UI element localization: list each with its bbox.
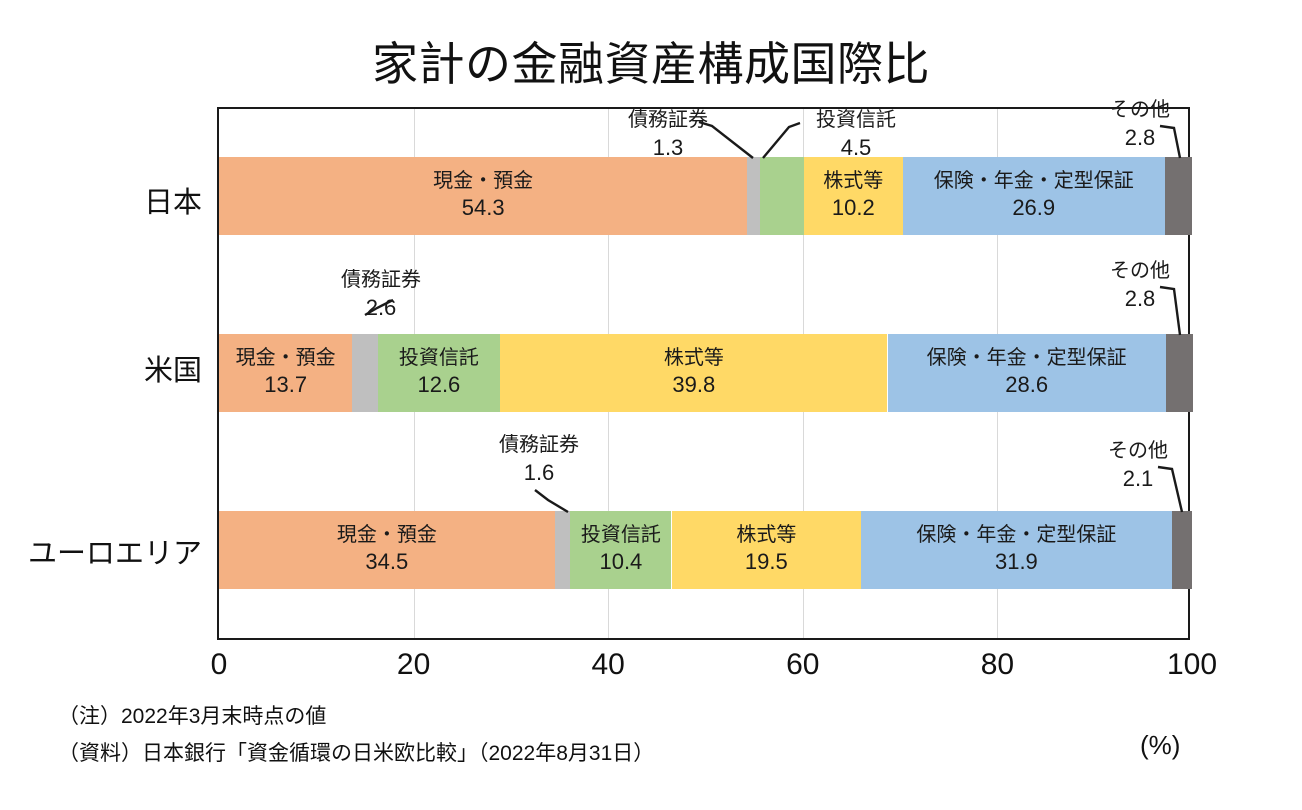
segment-us-insurance[interactable]: 保険・年金・定型保証 28.6 [888, 334, 1166, 412]
callout-japan-other: その他 2.8 [1085, 98, 1195, 153]
callout-us-debt: 債務証券 2.6 [311, 268, 451, 323]
segment-japan-debt[interactable] [747, 157, 760, 235]
chart-title: 家計の金融資産構成国際比 [0, 28, 1302, 94]
callout-name: 債務証券 [598, 108, 738, 133]
callout-value: 4.5 [786, 133, 926, 163]
segment-japan-funds[interactable] [760, 157, 804, 235]
segment-label-value: 12.6 [417, 371, 460, 400]
segment-label-value: 10.4 [599, 548, 642, 577]
segment-label-value: 31.9 [995, 548, 1038, 577]
callout-value: 1.6 [469, 458, 609, 488]
xtick-0: 0 [174, 648, 264, 682]
segment-euro-insurance[interactable]: 保険・年金・定型保証 31.9 [861, 511, 1171, 589]
segment-us-funds[interactable]: 投資信託 12.6 [378, 334, 501, 412]
segment-label-name: 現金・預金 [236, 346, 336, 371]
segment-label-name: 株式等 [736, 523, 796, 548]
segment-us-debt[interactable] [352, 334, 377, 412]
callout-name: その他 [1085, 259, 1195, 284]
segment-japan-insurance[interactable]: 保険・年金・定型保証 26.9 [903, 157, 1165, 235]
chart-canvas: 家計の金融資産構成国際比 日本 米国 ユーロエリア 現金・預金 54.3 株式等… [0, 0, 1302, 810]
callout-name: 投資信託 [786, 108, 926, 133]
category-label-euro: ユーロエリア [28, 530, 202, 572]
segment-label-name: 株式等 [664, 346, 724, 371]
segment-euro-equity[interactable]: 株式等 19.5 [672, 511, 862, 589]
xtick-60: 60 [758, 648, 848, 682]
segment-label-value: 34.5 [365, 548, 408, 577]
segment-label-value: 28.6 [1005, 371, 1048, 400]
segment-label-name: 保険・年金・定型保証 [934, 169, 1134, 194]
segment-label-name: 保険・年金・定型保証 [916, 523, 1116, 548]
footnote-note: （注）2022年3月末時点の値 [58, 700, 326, 730]
category-label-us: 米国 [144, 347, 202, 389]
callout-name: その他 [1085, 98, 1195, 123]
xtick-100: 100 [1147, 648, 1237, 682]
segment-euro-debt[interactable] [555, 511, 571, 589]
callout-value: 2.8 [1085, 284, 1195, 314]
xtick-80: 80 [952, 648, 1042, 682]
callout-us-other: その他 2.8 [1085, 259, 1195, 314]
callout-japan-funds: 投資信託 4.5 [786, 108, 926, 163]
segment-label-name: 投資信託 [399, 346, 479, 371]
callout-value: 1.3 [598, 133, 738, 163]
segment-euro-funds[interactable]: 投資信託 10.4 [570, 511, 671, 589]
segment-label-value: 13.7 [264, 371, 307, 400]
segment-us-equity[interactable]: 株式等 39.8 [500, 334, 887, 412]
callout-value: 2.1 [1083, 464, 1193, 494]
callout-euro-debt: 債務証券 1.6 [469, 433, 609, 488]
xtick-40: 40 [563, 648, 653, 682]
callout-value: 2.6 [311, 293, 451, 323]
segment-label-value: 10.2 [832, 194, 875, 223]
segment-label-value: 54.3 [462, 194, 505, 223]
segment-euro-cash[interactable]: 現金・預金 34.5 [219, 511, 555, 589]
segment-label-name: 現金・預金 [337, 523, 437, 548]
xtick-20: 20 [369, 648, 459, 682]
footnote-source: （資料）日本銀行「資金循環の日米欧比較」（2022年8月31日） [58, 737, 654, 767]
segment-japan-cash[interactable]: 現金・預金 54.3 [219, 157, 747, 235]
segment-label-value: 19.5 [745, 548, 788, 577]
segment-us-cash[interactable]: 現金・預金 13.7 [219, 334, 352, 412]
unit-label: (%) [1140, 730, 1180, 761]
callout-japan-debt: 債務証券 1.3 [598, 108, 738, 163]
category-label-japan: 日本 [144, 179, 202, 221]
segment-euro-other[interactable] [1172, 511, 1192, 589]
callout-name: 債務証券 [469, 433, 609, 458]
segment-japan-other[interactable] [1165, 157, 1192, 235]
segment-label-value: 39.8 [672, 371, 715, 400]
segment-label-name: 株式等 [823, 169, 883, 194]
callout-name: その他 [1083, 439, 1193, 464]
segment-label-value: 26.9 [1012, 194, 1055, 223]
segment-label-name: 投資信託 [581, 523, 661, 548]
callout-name: 債務証券 [311, 268, 451, 293]
segment-label-name: 保険・年金・定型保証 [927, 346, 1127, 371]
segment-us-other[interactable] [1166, 334, 1193, 412]
callout-euro-other: その他 2.1 [1083, 439, 1193, 494]
segment-label-name: 現金・預金 [433, 169, 533, 194]
callout-value: 2.8 [1085, 123, 1195, 153]
segment-japan-equity[interactable]: 株式等 10.2 [804, 157, 903, 235]
